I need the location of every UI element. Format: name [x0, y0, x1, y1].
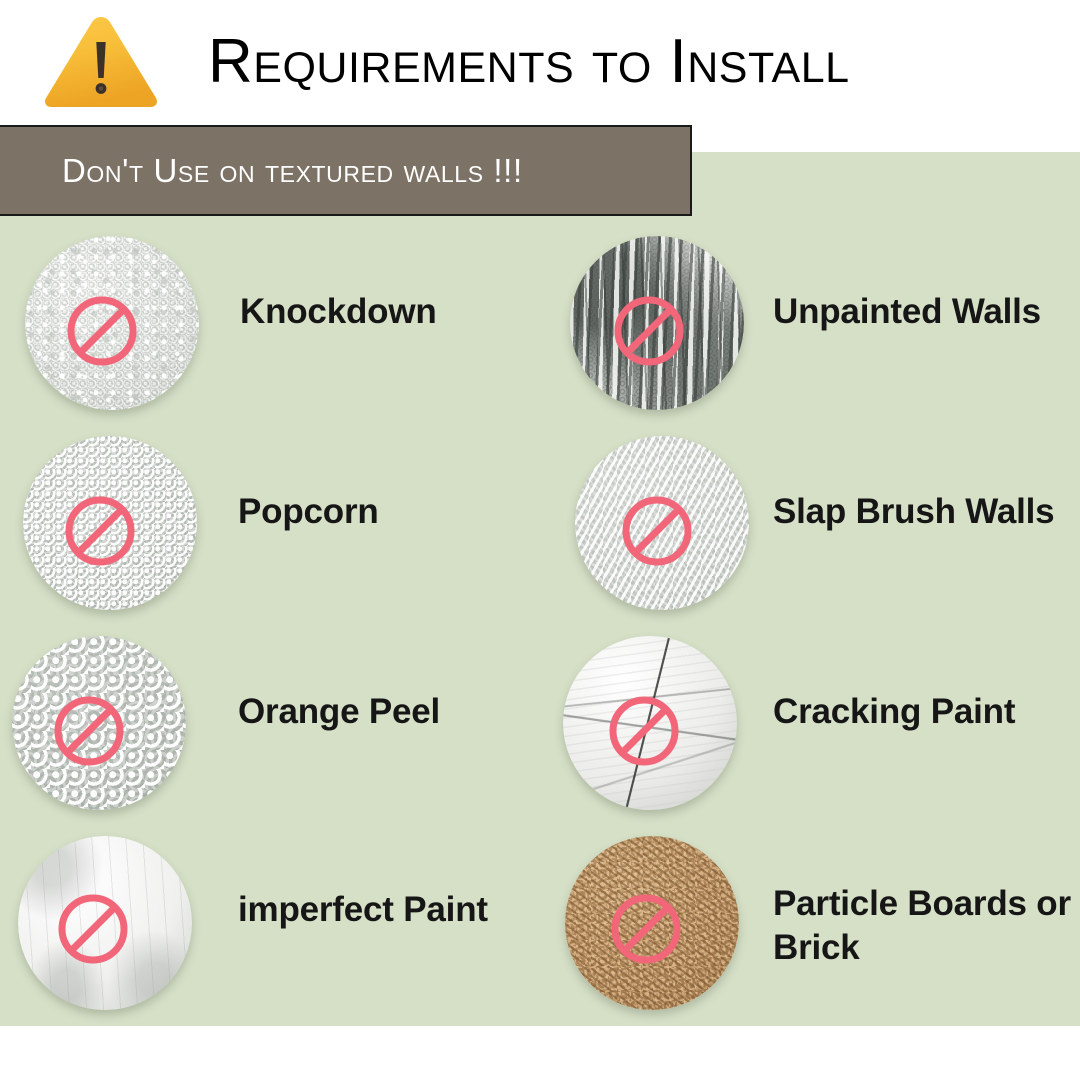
list-item-label: Particle Boards or Brick — [773, 882, 1073, 970]
list-item: Slap Brush Walls — [545, 426, 1065, 626]
list-item-label: imperfect Paint — [238, 888, 528, 932]
list-item: Cracking Paint — [545, 626, 1065, 826]
list-item: Orange Peel — [0, 626, 520, 826]
prohibition-icon — [620, 494, 694, 568]
prohibition-icon — [56, 892, 130, 966]
prohibition-icon — [607, 694, 681, 768]
list-item: Unpainted Walls — [545, 226, 1065, 426]
warning-banner-text: Don't Use on textured walls !!! — [62, 127, 523, 214]
list-item-label: Knockdown — [240, 290, 510, 334]
prohibition-icon — [65, 294, 139, 368]
prohibition-icon — [63, 494, 137, 568]
texture-swatch — [575, 436, 749, 610]
prohibition-icon — [609, 892, 683, 966]
prohibition-icon — [612, 294, 686, 368]
list-item: Knockdown — [0, 226, 520, 426]
list-item-label: Slap Brush Walls — [773, 490, 1073, 534]
texture-swatch — [23, 436, 197, 610]
list-item-label: Unpainted Walls — [773, 290, 1073, 334]
texture-swatch — [570, 236, 744, 410]
texture-swatch — [18, 836, 192, 1010]
list-item: imperfect Paint — [0, 826, 520, 1026]
texture-swatch — [12, 636, 186, 810]
list-item-label: Orange Peel — [238, 690, 518, 734]
infographic-page: Requirements to Install Don't Use on tex… — [0, 0, 1080, 1080]
list-item-label: Cracking Paint — [773, 690, 1073, 734]
list-item-label: Popcorn — [238, 490, 508, 534]
prohibition-icon — [52, 694, 126, 768]
page-title: Requirements to Install — [208, 18, 1008, 106]
list-item: Popcorn — [0, 426, 520, 626]
header: Requirements to Install — [0, 0, 1080, 125]
texture-swatch — [565, 836, 739, 1010]
warning-banner: Don't Use on textured walls !!! — [0, 125, 692, 216]
texture-swatch — [563, 636, 737, 810]
list-item: Particle Boards or Brick — [545, 826, 1065, 1026]
warning-triangle-icon — [38, 12, 164, 110]
texture-swatch — [25, 236, 199, 410]
